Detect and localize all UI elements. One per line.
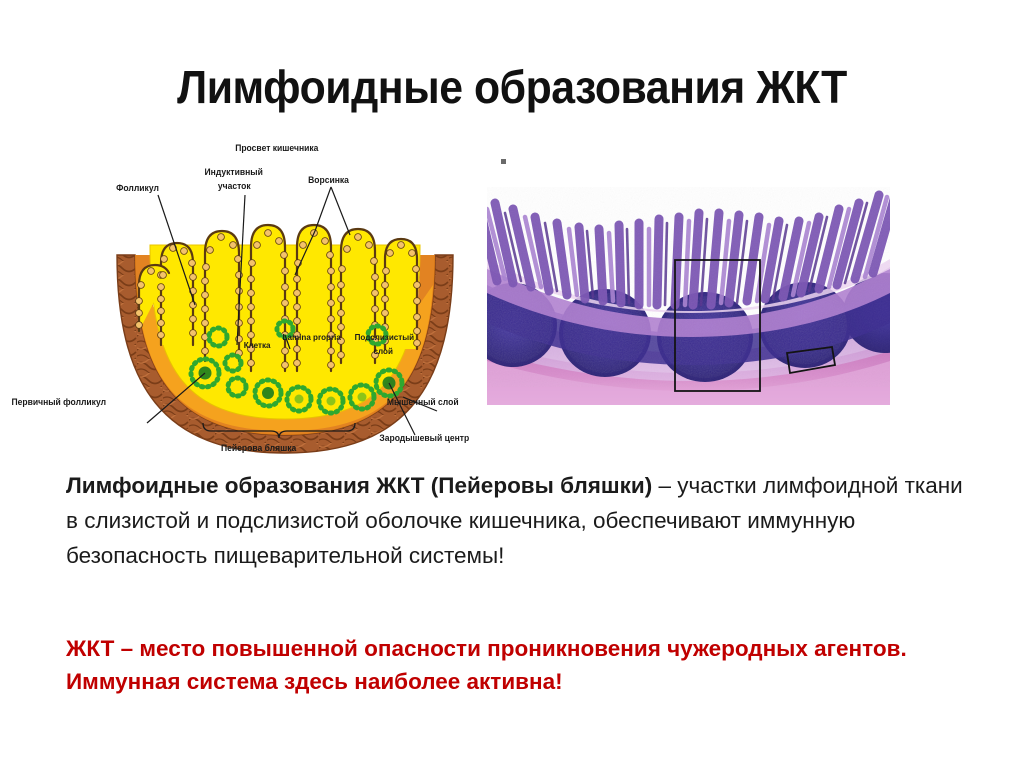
label-germinal-center: Зародышевый центр bbox=[379, 433, 469, 443]
micrograph-speck bbox=[501, 159, 506, 164]
label-lamina-propria: Lamina propria bbox=[283, 333, 341, 343]
label-inductive-site-line1: Индуктивный bbox=[205, 167, 263, 177]
label-peyers-patch: Пейерова бляшка bbox=[221, 443, 296, 453]
slide-canvas: Лимфоидные образования ЖКТ bbox=[0, 0, 1024, 767]
figures-row: Просвет кишечника Фолликул Индуктивный у… bbox=[0, 135, 1024, 455]
label-primary-follicle: Первичный фолликул bbox=[11, 397, 106, 407]
label-submucosa-line2: слой bbox=[374, 347, 393, 357]
label-villus: Ворсинка bbox=[308, 175, 349, 185]
body-paragraph: Лимфоидные образования ЖКТ (Пейеровы бля… bbox=[66, 468, 966, 573]
label-intestinal-lumen: Просвет кишечника bbox=[235, 143, 318, 153]
micrograph-svg bbox=[487, 147, 890, 405]
intestine-schematic-diagram: Просвет кишечника Фолликул Индуктивный у… bbox=[85, 135, 485, 455]
body-lead: Лимфоидные образования ЖКТ (Пейеровы бля… bbox=[66, 473, 652, 498]
histology-micrograph bbox=[487, 147, 890, 405]
label-submucosa-line1: Подслизистый bbox=[355, 333, 415, 343]
tissue-grain bbox=[487, 187, 890, 387]
label-cell: Клетка bbox=[244, 341, 271, 351]
label-muscular-layer: Мышечный слой bbox=[387, 397, 459, 407]
page-title: Лимфоидные образования ЖКТ bbox=[36, 60, 988, 114]
label-follicle: Фолликул bbox=[116, 183, 159, 193]
label-inductive-site-line2: участок bbox=[218, 181, 251, 191]
warning-paragraph: ЖКТ – место повышенной опасности проникн… bbox=[66, 632, 986, 698]
